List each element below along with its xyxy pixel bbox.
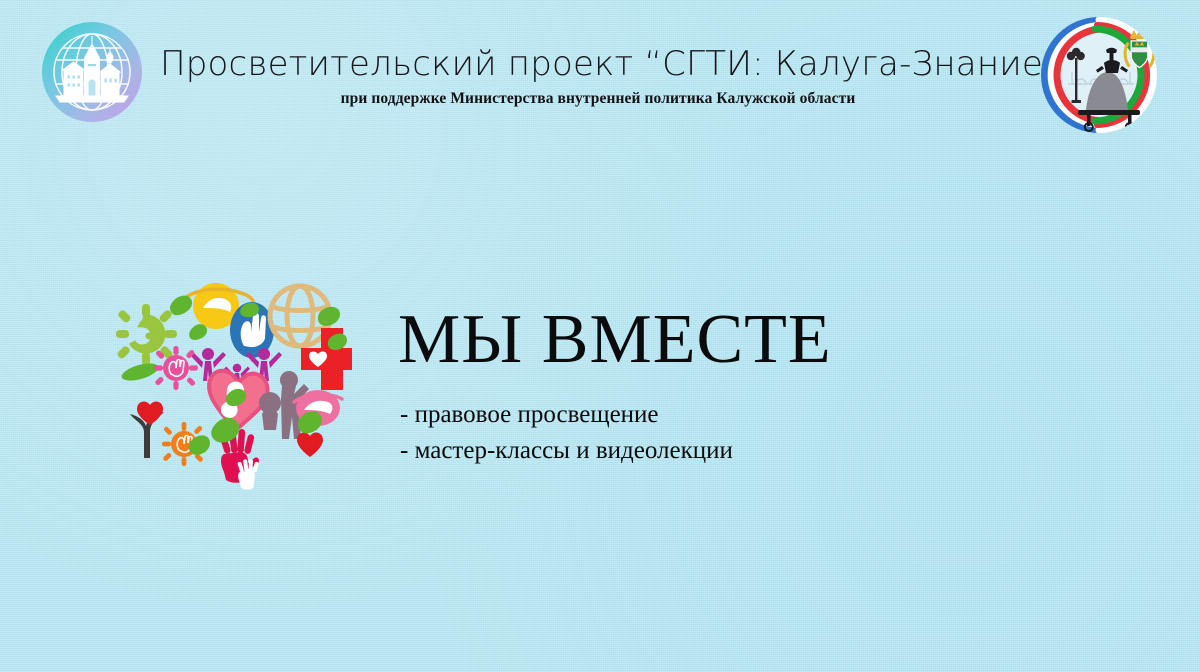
page-title: Просветительский проект “СГТИ: Калуга-Зн… xyxy=(160,44,1036,84)
kaluga-region-emblem-icon xyxy=(1038,14,1160,136)
headline-block: МЫ ВМЕСТЕ - правовое просвещение - масте… xyxy=(398,305,998,468)
feature-list: - правовое просвещение - мастер-классы и… xyxy=(400,397,998,468)
list-item: - мастер-классы и видеолекции xyxy=(400,433,998,469)
header-text-block: Просветительский проект “СГТИ: Калуга-Зн… xyxy=(160,44,1036,108)
globe-church-emblem-icon xyxy=(38,18,146,126)
header-subtitle: при поддержке Министерства внутренней по… xyxy=(160,90,1036,108)
poster-main: МЫ ВМЕСТЕ - правовое просвещение - масте… xyxy=(0,150,1200,672)
poster-header: Просветительский проект “СГТИ: Калуга-Зн… xyxy=(0,0,1200,150)
list-item: - правовое просвещение xyxy=(400,397,998,433)
heart-collage-icon xyxy=(104,268,352,496)
headline: МЫ ВМЕСТЕ xyxy=(398,305,998,375)
poster-canvas: Просветительский проект “СГТИ: Калуга-Зн… xyxy=(0,0,1200,672)
